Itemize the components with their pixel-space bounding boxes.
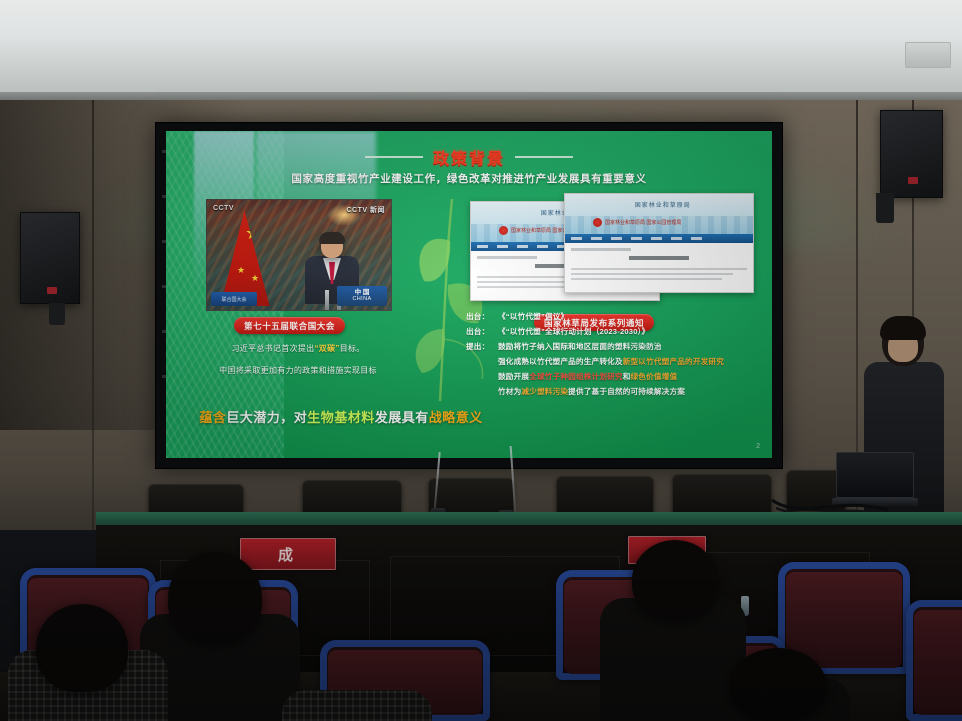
audience-chair [906, 600, 962, 721]
presenter-hair [880, 316, 926, 340]
slide-vignette [166, 131, 772, 458]
speaker-bracket [49, 303, 65, 325]
wall-speaker-left [20, 212, 80, 304]
presentation-slide: 政策背景 国家高度重视竹产业建设工作，绿色改革对推进竹产业发展具有重要意义 ★ … [166, 131, 772, 458]
speaker-badge-icon [47, 287, 57, 294]
dais-chair [672, 474, 772, 516]
ceiling [0, 0, 962, 96]
chair-cushion [914, 610, 962, 715]
name-placard-front: 成 [240, 538, 336, 570]
dais-table-top [96, 512, 962, 525]
attendee-torso [282, 690, 432, 721]
attendee-head [36, 604, 128, 692]
attendee-head [632, 540, 718, 620]
laptop-screen [836, 452, 914, 498]
ceiling-vent [905, 42, 951, 68]
speaker-badge-icon [908, 177, 918, 184]
attendee-head [168, 552, 262, 644]
attendee-head [730, 648, 826, 721]
wall-seam [92, 100, 94, 530]
wall-speaker-right [880, 110, 943, 198]
conference-room-photo: 政策背景 国家高度重视竹产业建设工作，绿色改革对推进竹产业发展具有重要意义 ★ … [0, 0, 962, 721]
speaker-bracket [876, 193, 894, 223]
